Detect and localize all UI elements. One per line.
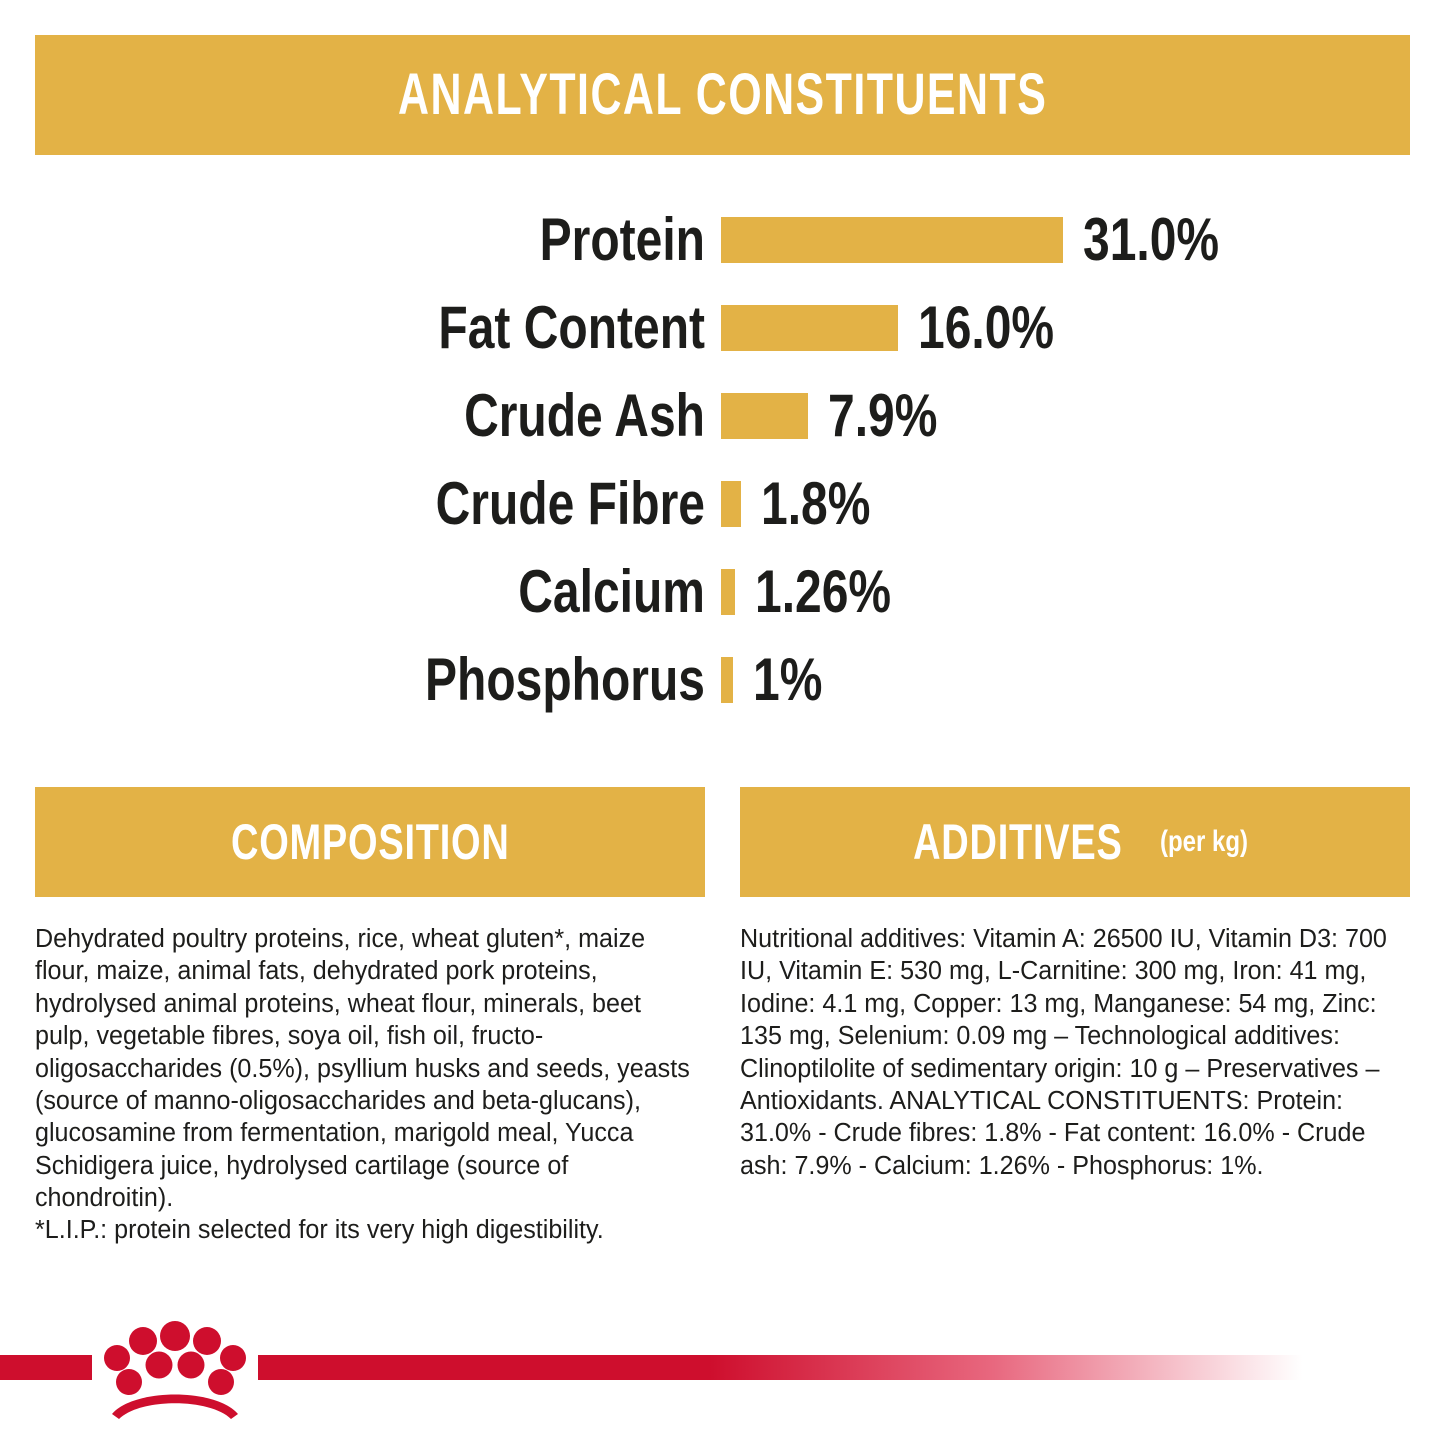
analytical-constituents-chart: Protein 31.0% Fat Content 16.0% Crude As… — [35, 196, 1410, 724]
chart-bar-wrap: 16.0% — [721, 298, 1410, 358]
page-title: ANALYTICAL CONSTITUENTS — [398, 66, 1047, 124]
chart-bar-wrap: 1.8% — [721, 474, 1410, 534]
additives-header: ADDITIVES (per kg) — [740, 787, 1410, 897]
chart-bar — [721, 481, 741, 527]
chart-row: Protein 31.0% — [35, 196, 1410, 284]
composition-header-label: COMPOSITION — [231, 817, 510, 867]
info-columns: COMPOSITION Dehydrated poultry proteins,… — [35, 787, 1410, 1247]
composition-ingredients-text: Dehydrated poultry proteins, rice, wheat… — [35, 923, 695, 1214]
additives-text: Nutritional additives: Vitamin A: 26500 … — [740, 923, 1400, 1182]
chart-bar — [721, 569, 735, 615]
analytical-constituents-header: ANALYTICAL CONSTITUENTS — [35, 35, 1410, 155]
chart-bar — [721, 657, 733, 703]
chart-row: Phosphorus 1% — [35, 636, 1410, 724]
chart-row-value: 1.26% — [755, 562, 891, 622]
chart-bar-wrap: 1% — [721, 650, 1410, 710]
chart-row-value: 16.0% — [918, 298, 1054, 358]
chart-bar — [721, 217, 1063, 263]
chart-bar — [721, 393, 808, 439]
chart-row: Crude Fibre 1.8% — [35, 460, 1410, 548]
additives-header-unit-label: (per kg) — [1160, 827, 1248, 857]
chart-row-label: Calcium — [172, 562, 721, 622]
chart-row: Crude Ash 7.9% — [35, 372, 1410, 460]
chart-bar-wrap: 1.26% — [721, 562, 1410, 622]
chart-row-label: Fat Content — [172, 298, 721, 358]
composition-header: COMPOSITION — [35, 787, 705, 897]
chart-row: Calcium 1.26% — [35, 548, 1410, 636]
brand-rule-left — [0, 1355, 92, 1380]
chart-row-label: Crude Fibre — [172, 474, 721, 534]
brand-rule-right — [258, 1355, 1445, 1380]
chart-row-label: Protein — [172, 210, 721, 270]
additives-column: ADDITIVES (per kg) Nutritional additives… — [740, 787, 1410, 1247]
chart-row-label: Phosphorus — [172, 650, 721, 710]
additives-body: Nutritional additives: Vitamin A: 26500 … — [740, 923, 1400, 1182]
composition-column: COMPOSITION Dehydrated poultry proteins,… — [35, 787, 705, 1247]
chart-bar — [721, 305, 898, 351]
additives-header-label: ADDITIVES — [913, 817, 1123, 867]
chart-row-value: 31.0% — [1083, 210, 1219, 270]
chart-row-value: 1.8% — [761, 474, 870, 534]
chart-row-value: 1% — [753, 650, 822, 710]
royal-canin-crown-logo — [100, 1314, 250, 1424]
chart-row-label: Crude Ash — [172, 386, 721, 446]
chart-bar-wrap: 7.9% — [721, 386, 1410, 446]
composition-footnote-text: *L.I.P.: protein selected for its very h… — [35, 1214, 695, 1246]
composition-body: Dehydrated poultry proteins, rice, wheat… — [35, 923, 695, 1247]
brand-footer — [0, 1300, 1445, 1445]
chart-row: Fat Content 16.0% — [35, 284, 1410, 372]
chart-bar-wrap: 31.0% — [721, 210, 1410, 270]
chart-row-value: 7.9% — [828, 386, 937, 446]
